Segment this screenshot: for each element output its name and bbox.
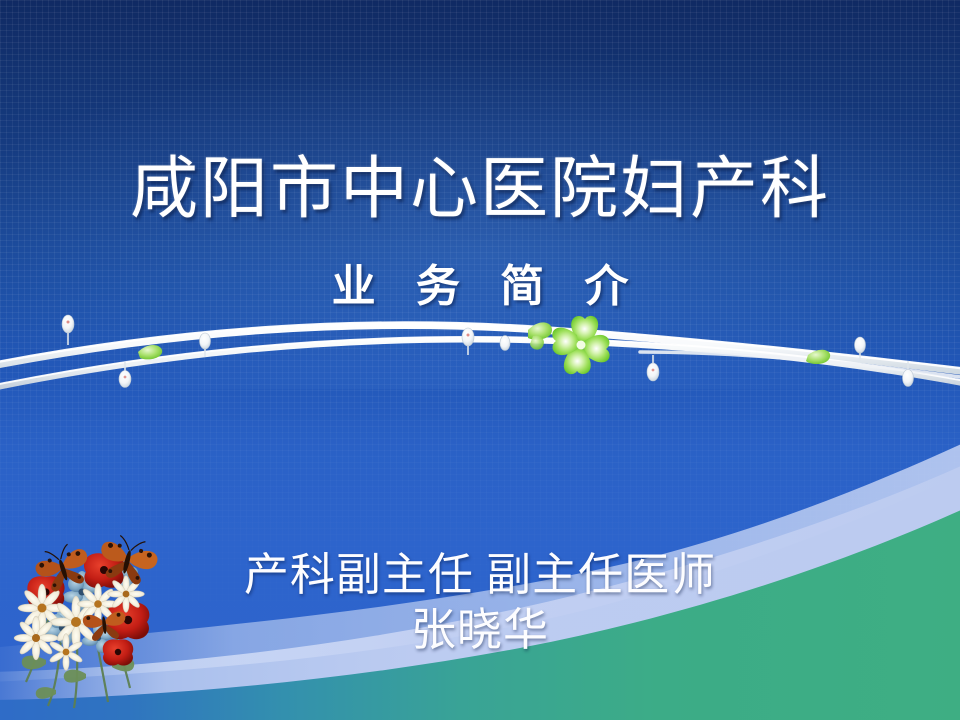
- slide-subtitle: 业 务 简 介: [0, 262, 960, 312]
- title-slide: 咸阳市中心医院妇产科 业 务 简 介 产科副主任 副主任医师 张晓华: [0, 0, 960, 720]
- presenter-block: 产科副主任 副主任医师 张晓华: [0, 548, 960, 658]
- presenter-name: 张晓华: [0, 603, 960, 658]
- presenter-role: 产科副主任 副主任医师: [244, 550, 716, 600]
- slide-title: 咸阳市中心医院妇产科: [0, 152, 960, 226]
